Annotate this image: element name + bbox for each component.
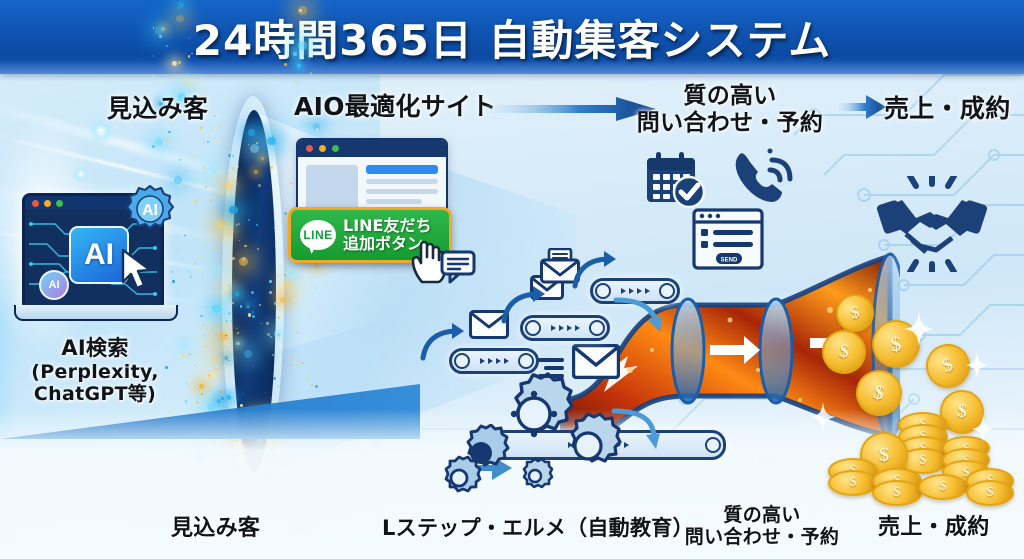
particle [226,171,229,174]
particle [311,384,313,386]
particle [217,349,219,351]
particle [219,390,222,393]
particle [236,342,240,346]
particle [283,281,291,289]
particle [275,241,278,244]
text-line [366,199,422,204]
particle [240,305,242,307]
particle [277,316,280,319]
gear-icon [436,455,482,501]
particle [284,274,286,276]
particle [237,332,239,334]
ai-search-caption-line1: AI検索 [0,336,190,361]
particle [248,144,249,145]
curved-arrow-icon [420,322,466,362]
maximize-dot-icon [332,145,339,152]
particle [218,140,221,143]
ai-gear-badge-icon: AI [126,185,174,233]
particle [177,292,178,293]
particle [225,286,232,293]
particle [200,315,203,318]
particle [179,159,181,161]
particle [284,212,287,215]
particle [191,53,193,55]
particle [265,392,267,394]
particle [316,287,318,289]
particle [194,153,196,155]
particle [254,170,258,174]
particle [202,324,204,326]
particle [295,338,296,339]
particle [227,194,229,196]
arrow-right-icon [486,96,656,122]
particle [200,127,202,129]
particle [296,364,297,365]
particle [267,137,275,145]
particle [179,185,181,187]
particle [194,262,196,264]
particle [252,315,255,318]
particle [215,368,218,371]
particle [234,163,236,165]
particle [239,257,248,266]
ai-search-caption: AI検索 (Perplexity, ChatGPT等) [0,336,190,406]
text-line [366,179,438,184]
particle [179,263,180,264]
particle [228,154,231,157]
particle [207,141,209,143]
top-label-quality-inquiry-line1: 質の高い [635,83,825,110]
top-label-prospects: 見込み客 [107,94,208,124]
ai-search-laptop: AI AI AI [14,193,174,333]
particle [270,336,272,338]
particle [314,262,319,267]
contact-form-icon: SEND [692,208,764,270]
particle [242,393,243,394]
particle [278,337,280,339]
particle [274,227,276,229]
particle [260,323,262,325]
particle [244,245,246,247]
particle [316,128,318,130]
particle [236,328,237,329]
text-line [366,189,438,194]
svg-text:AI: AI [142,202,158,219]
particle [253,366,255,368]
particle [291,356,294,359]
particle [299,9,302,12]
curved-arrow-icon [612,290,664,334]
particle [248,129,254,135]
particle [297,64,301,68]
particle [217,115,220,118]
lens-flare [72,165,90,183]
particle [184,235,186,237]
particle [230,320,232,322]
text-lines [366,165,438,209]
particle [262,105,264,107]
particle [196,401,199,404]
particle [228,312,231,315]
envelope-icon [572,344,620,379]
particle [257,248,260,251]
particle [203,334,206,337]
bottom-label-quality-inquiry: 質の高い 問い合わせ・予約 [672,504,852,549]
particle [261,157,265,161]
particle [226,395,231,400]
bottom-label-lstep: Lステップ・エルメ（自動教育） [382,516,694,541]
particle [294,384,297,387]
particle [279,225,281,227]
particle [210,200,212,202]
particle [259,304,261,306]
particle [216,266,222,272]
particle [266,322,269,325]
sparkle-icon [810,402,836,432]
ai-mini-badge: AI [39,270,69,300]
particle [290,364,293,367]
particle [214,115,215,116]
particle [232,167,234,169]
title-banner: 24時間365日 自動集客システム [0,0,1024,74]
particle [205,345,208,348]
particle [280,297,286,303]
particle [225,182,232,189]
particle [220,375,221,376]
particle [294,300,296,302]
particle [244,350,252,358]
ai-search-caption-line2: (Perplexity, [0,361,190,383]
phone-call-icon [730,148,794,210]
sparkle-icon [904,312,934,346]
particle [232,155,233,156]
top-label-sales: 売上・成約 [884,94,1011,124]
particle [269,291,272,294]
particle [272,354,274,356]
particle [290,182,292,184]
particle [252,311,254,313]
top-label-quality-inquiry: 質の高い 問い合わせ・予約 [635,83,825,137]
particle [232,302,234,304]
sparkle-icon [972,416,994,442]
particle [205,186,207,188]
particle [226,229,232,235]
particle [211,374,215,378]
particle [194,200,197,203]
line-button-line1: LINE友だち [343,217,431,235]
curved-arrow-icon [572,250,618,290]
top-label-quality-inquiry-line2: 問い合わせ・予約 [635,110,825,137]
particle [289,270,295,276]
arrow-right-icon [838,94,886,120]
ai-search-caption-line3: ChatGPT等) [0,383,190,405]
particle [277,385,280,388]
particle [168,131,171,134]
particle [195,365,197,367]
particle [219,125,221,127]
particle [240,404,243,407]
particle [186,81,191,86]
particle [248,219,250,221]
particle [270,166,273,169]
coin-stacked: $ [918,474,968,500]
particle [219,332,228,341]
particle [298,41,306,49]
particle [250,144,259,153]
bottom-label-quality-inquiry-line1: 質の高い [672,504,852,526]
page-title: 24時間365日 自動集客システム [0,7,1024,68]
particle [216,247,218,249]
close-dot-icon [306,145,313,152]
particle [258,184,261,187]
particle [235,186,236,187]
particle [235,292,239,296]
particle [315,385,318,388]
particle [225,403,227,405]
top-label-aio-site: AIO最適化サイト [294,92,497,122]
close-dot-icon [32,200,39,207]
particle [178,2,184,8]
particle [198,255,200,257]
particle [277,275,278,276]
bottom-label-sales: 売上・成約 [878,515,990,541]
laptop-base [14,305,178,321]
particle [213,305,221,313]
cursor-arrow-icon [119,248,159,292]
particle [221,397,224,400]
particle [296,332,298,334]
coin: $ [851,365,908,422]
coin: $ [819,327,870,378]
particle [273,377,276,380]
particle [190,275,192,277]
particle [153,55,154,56]
particle [215,335,217,337]
coin-stacked: $ [966,480,1014,506]
coin-stacked: $ [828,470,878,496]
particle [226,320,228,322]
particle [155,138,163,146]
particle [206,307,207,308]
bottom-label-quality-inquiry-line2: 問い合わせ・予約 [672,526,852,548]
particle [274,302,277,305]
particle [201,131,203,133]
line-logo-icon: LINE [300,220,336,250]
particle [248,313,251,316]
particle [293,196,296,199]
image-placeholder [306,165,358,209]
particle [245,302,251,308]
particle [199,384,204,389]
particle [174,176,182,184]
particle [236,165,239,168]
maximize-dot-icon [56,200,63,207]
particle [211,129,213,131]
heading-bar [366,165,438,174]
curved-arrow-icon [501,285,547,325]
particle [198,266,201,269]
particle [212,355,221,364]
particle [276,294,279,297]
infographic-canvas: 24時間365日 自動集客システム {} [0,0,1024,559]
particle [228,360,229,361]
calendar-check-icon [645,150,707,208]
particle [155,26,164,35]
minimize-dot-icon [44,200,51,207]
coin-stacked: $ [872,480,922,506]
particle [295,81,297,83]
gear-icon [516,457,554,495]
browser-titlebar [298,140,446,157]
gear-icon [554,412,622,480]
gold-coins-group: $ $ $ $ $ $ $ $ $ $ $ $ $ $ $ $ $ $ $ $ … [818,290,1024,505]
particle [212,299,214,301]
handshake-icon [876,176,988,272]
particle [238,223,241,226]
particle [178,251,179,252]
particle [204,167,206,169]
particle [273,215,275,217]
particle [170,173,171,174]
particle [293,323,295,325]
particle [166,45,168,47]
particle [301,362,303,364]
bottom-label-prospects: 見込み客 [171,516,260,542]
particle [236,183,238,185]
speed-lines-icon [536,354,570,380]
particle [152,75,155,78]
particle [239,240,241,242]
particle [232,257,235,260]
form-send-label: SEND [721,258,738,264]
particle [188,270,190,272]
particle [308,378,310,380]
particle [165,141,168,144]
particle [203,141,205,143]
particle [251,291,254,294]
particle [152,145,155,148]
particle [256,224,258,226]
coin: $ [832,290,878,336]
particle [269,280,272,283]
particle [201,393,203,395]
chat-bubble-icon [440,250,476,284]
sparkle-icon [966,352,988,378]
particle [229,206,237,214]
minimize-dot-icon [319,145,326,152]
